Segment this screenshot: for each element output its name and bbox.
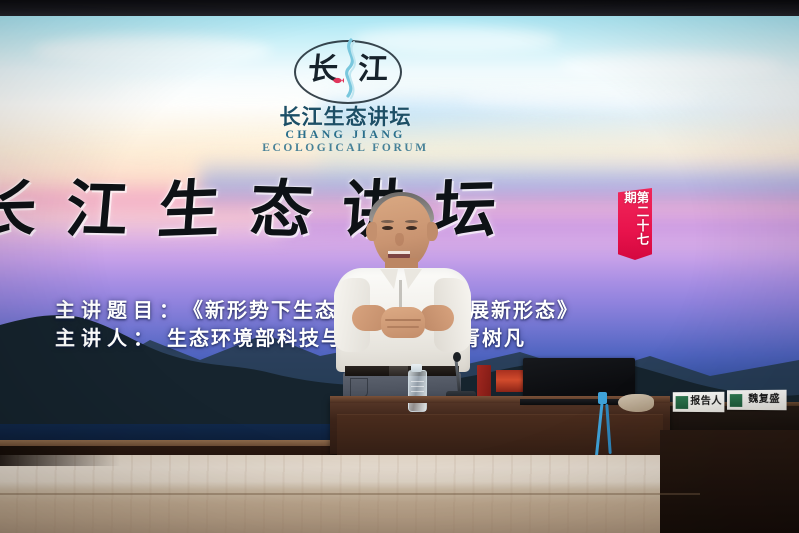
title-char-3: 生 bbox=[156, 179, 223, 243]
speaker-eye-right bbox=[406, 226, 417, 230]
speaker-brow-right bbox=[405, 220, 418, 223]
water-bottle bbox=[408, 370, 427, 412]
cloud-wisp bbox=[463, 87, 703, 109]
speaker-belt-buckle bbox=[389, 366, 408, 376]
title-char-6: 坛 bbox=[432, 179, 498, 243]
fish-icon bbox=[332, 76, 344, 85]
nameplate-badge-icon bbox=[730, 394, 742, 407]
title-char-2: 江 bbox=[63, 179, 130, 242]
nameplate-role: 报告人 bbox=[673, 392, 725, 412]
logo-chinese-name: 长江生态讲坛 bbox=[253, 106, 438, 128]
speaker-nose bbox=[395, 233, 404, 246]
banner-main-title: 长 江 生 态 讲 坛 bbox=[0, 172, 614, 250]
speaker-finger-line bbox=[385, 319, 421, 321]
decorative-stone bbox=[618, 394, 654, 412]
speaker-trouser-pocket bbox=[350, 378, 368, 398]
forum-logo: 长 江 长江生态讲坛 CHANG JIANG ECOLOGICAL FORUM bbox=[253, 36, 438, 154]
river-swoosh-icon bbox=[340, 38, 362, 100]
cloud-wisp bbox=[32, 36, 272, 66]
speaker-clasped-hands bbox=[381, 307, 425, 338]
microphone-head bbox=[453, 352, 461, 362]
ceiling-rail bbox=[470, 0, 799, 13]
speaker-finger-line bbox=[387, 326, 419, 328]
speaker-brow-left bbox=[381, 220, 394, 223]
logo-english-line-2: ECOLOGICAL FORUM bbox=[253, 142, 438, 155]
photo-stage: 长 江 长江生态讲坛 CHANG JIANG ECOLOGICAL FORUM … bbox=[0, 0, 799, 533]
floor-plank-seam bbox=[0, 493, 700, 495]
session-seal-text: 第二十七期 bbox=[623, 188, 648, 260]
subtitle-topic-label: 主讲题目： bbox=[55, 300, 185, 322]
nameplate-badge-icon bbox=[676, 396, 689, 409]
speaker-forearm-right bbox=[420, 305, 454, 331]
left-shadow bbox=[0, 446, 120, 466]
nameplate-name-text: 魏复盛 bbox=[742, 395, 786, 405]
speaker-collar-left bbox=[380, 269, 398, 289]
bottle-cap bbox=[411, 364, 422, 372]
ceiling-strip bbox=[0, 0, 799, 16]
session-seal-banner: 第二十七期 bbox=[618, 188, 652, 260]
nameplate-role-text: 报告人 bbox=[688, 397, 724, 407]
logo-emblem-mark: 长 江 bbox=[280, 36, 412, 108]
podium-front-panel bbox=[337, 414, 663, 457]
speaker-ear-right bbox=[427, 222, 438, 241]
speaker-ear-left bbox=[366, 222, 377, 241]
subtitle-speaker-label: 主讲人： bbox=[55, 328, 159, 350]
title-char-4: 态 bbox=[248, 179, 315, 243]
logo-english-line-1: CHANG JIANG bbox=[253, 128, 438, 142]
nameplate-name: 魏复盛 bbox=[727, 390, 787, 411]
speaker-collar-right bbox=[404, 269, 422, 289]
title-char-1: 长 bbox=[0, 179, 38, 243]
speaker-eye-left bbox=[382, 226, 393, 230]
cloud-wisp bbox=[559, 53, 783, 79]
right-dark-wall bbox=[660, 430, 799, 533]
cable-plug bbox=[598, 392, 607, 404]
